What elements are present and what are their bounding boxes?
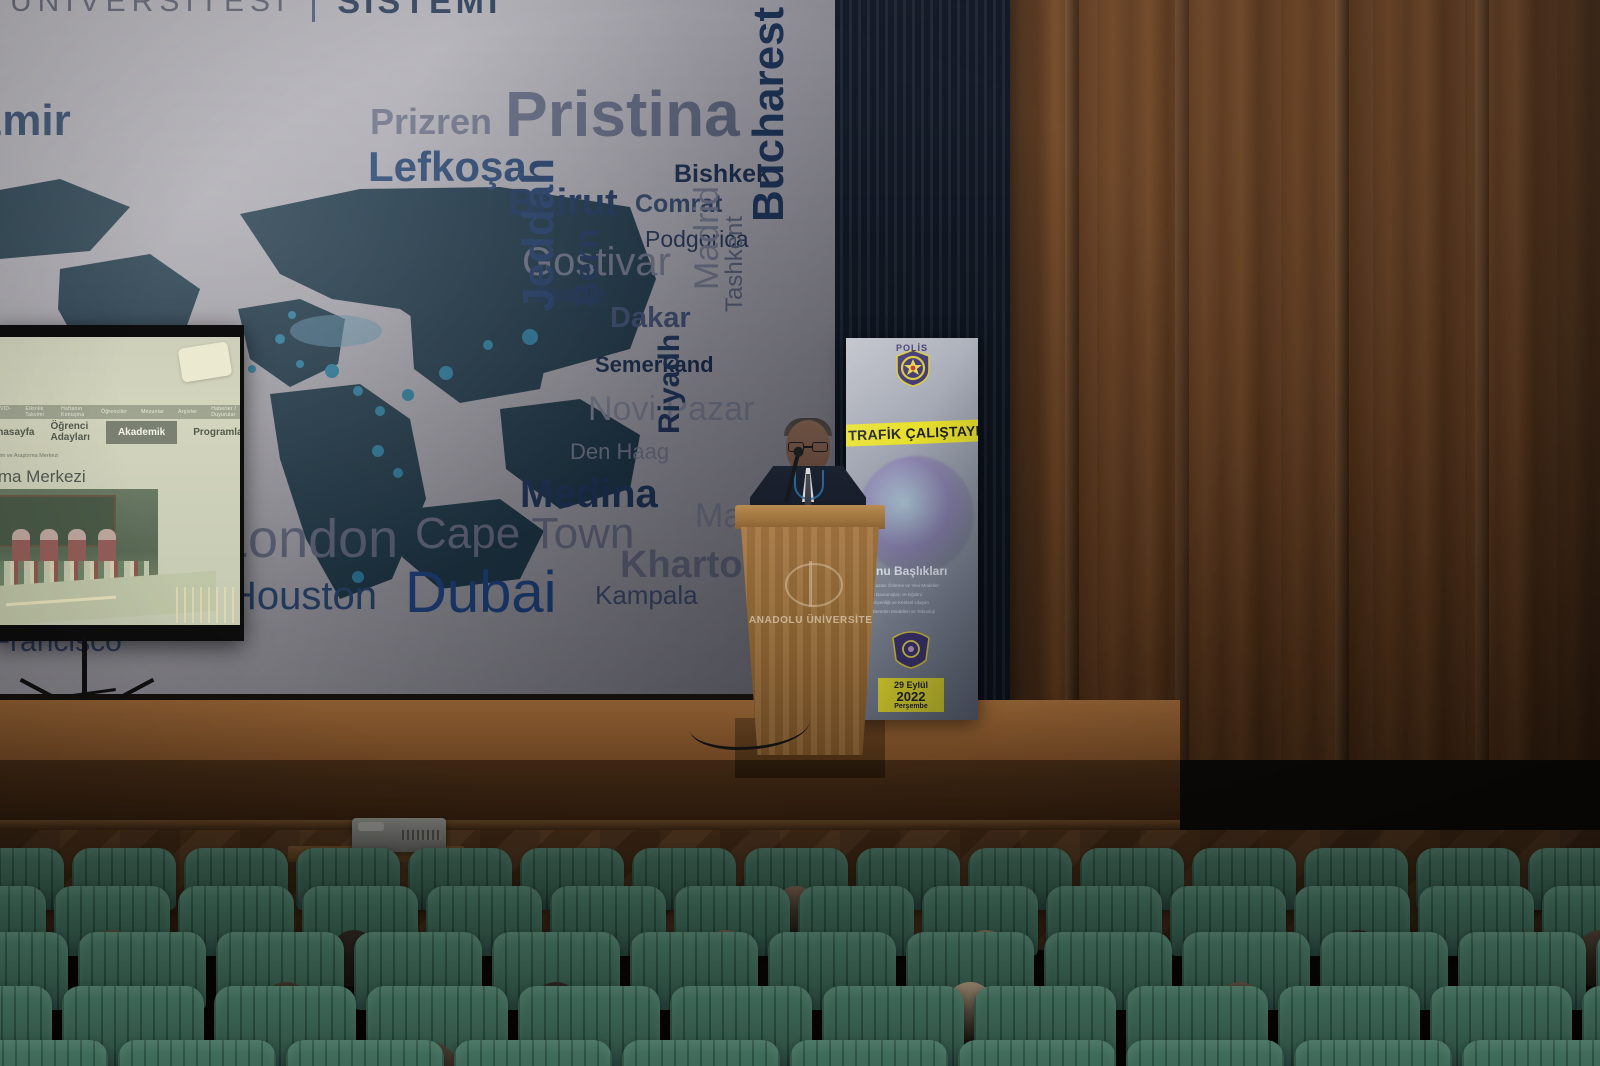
banner-date-day: 29 Eylül (894, 681, 928, 690)
word-cloud-item: İzmir (0, 99, 71, 143)
backdrop-header-right: SİSTEMİ (337, 0, 501, 22)
word-cloud-item: Dakar (610, 304, 691, 333)
auditorium-seat (958, 1040, 1116, 1066)
auditorium-seat (1294, 1040, 1452, 1066)
backdrop-header: ÜNİVERSİTESİ SİSTEMİ (0, 0, 835, 32)
word-cloud-item: Madrid (690, 186, 724, 290)
site-nav-item[interactable]: Anasayfa (0, 427, 34, 438)
site-utility-link[interactable]: Arşivler (178, 409, 197, 415)
auditorium-seat (0, 1040, 108, 1066)
decorative-card (178, 341, 233, 382)
word-cloud-item: Riyadh (655, 334, 685, 434)
site-breadcrumb: Eğitim ve Araştırma Merkezi (0, 453, 58, 459)
banner-date-weekday: Perşembe (894, 703, 927, 710)
word-cloud-item: Houston (228, 576, 377, 616)
auditorium-seat (454, 1040, 612, 1066)
site-page-title: ...rma Merkezi (0, 467, 86, 487)
auditorium-scene: ÜNİVERSİTESİ SİSTEMİ (0, 0, 1600, 1066)
tripod-projection-screen: COVID-19Etkinlik TakvimiHaftanın Konuşma… (0, 325, 244, 641)
word-cloud-item: Dubai (405, 564, 557, 622)
site-utility-link[interactable]: Haftanın Konuşma (61, 406, 87, 418)
site-nav-item[interactable]: Akademik (106, 421, 177, 444)
wooden-wall-panel (1005, 0, 1600, 760)
word-cloud-item: Medina (520, 474, 658, 514)
projector-ports (402, 830, 442, 840)
word-cloud-item: Prizren (370, 104, 492, 140)
projected-website: COVID-19Etkinlik TakvimiHaftanın Konuşma… (0, 337, 240, 625)
banner-date-block: 29 Eylül 2022 Perşembe (878, 678, 944, 712)
site-nav-item[interactable]: Programlar (193, 427, 240, 438)
banner-date-year: 2022 (897, 690, 926, 703)
traffic-police-badge-icon (890, 630, 932, 670)
lectern-institution-label: ANADOLU ÜNİVERSİTESİ (741, 615, 891, 626)
lectern-top (735, 505, 885, 529)
word-cloud-item: Bucharest (747, 7, 791, 222)
word-cloud-item: Lefkoşa (368, 146, 527, 188)
auditorium-seat (118, 1040, 276, 1066)
site-utility-link[interactable]: Etkinlik Takvimi (25, 406, 47, 418)
projector-lens (358, 822, 384, 831)
site-nav-item[interactable]: Öğrenci Adayları (50, 421, 89, 443)
word-cloud-item: Bern (570, 229, 604, 306)
word-cloud-item: Pristina (505, 82, 740, 146)
site-utility-link[interactable]: Haberler / Duyurular (211, 406, 240, 418)
header-divider (312, 0, 315, 22)
police-emblem-label: POLİS (846, 343, 978, 353)
backdrop-header-left: ÜNİVERSİTESİ (10, 0, 290, 19)
word-cloud-item: Kampala (595, 582, 698, 608)
word-cloud-item: Jeddah (517, 158, 561, 312)
site-utility-bar: COVID-19Etkinlik TakvimiHaftanın Konuşma… (0, 405, 240, 419)
stage-front-face (0, 700, 1180, 830)
word-cloud-item: Cape Town (415, 512, 634, 556)
word-cloud-item: London (218, 512, 398, 566)
site-main-nav: AnasayfaÖğrenci AdaylarıAkademikPrograml… (0, 419, 240, 445)
auditorium-seating (0, 840, 1600, 1066)
auditorium-seat (286, 1040, 444, 1066)
auditorium-seat (1462, 1040, 1600, 1066)
auditorium-seat (1126, 1040, 1284, 1066)
site-utility-link[interactable]: Öğrenciler (101, 409, 127, 415)
anadolu-university-logo (785, 563, 843, 607)
auditorium-seat (790, 1040, 948, 1066)
site-utility-link[interactable]: COVID-19 (0, 406, 11, 418)
word-cloud-item: Tashkent (723, 216, 747, 312)
auditorium-seat (622, 1040, 780, 1066)
police-emblem-icon (894, 348, 932, 388)
site-utility-link[interactable]: Mezunlar (141, 409, 164, 415)
word-cloud-item: Den Haag (570, 441, 669, 463)
